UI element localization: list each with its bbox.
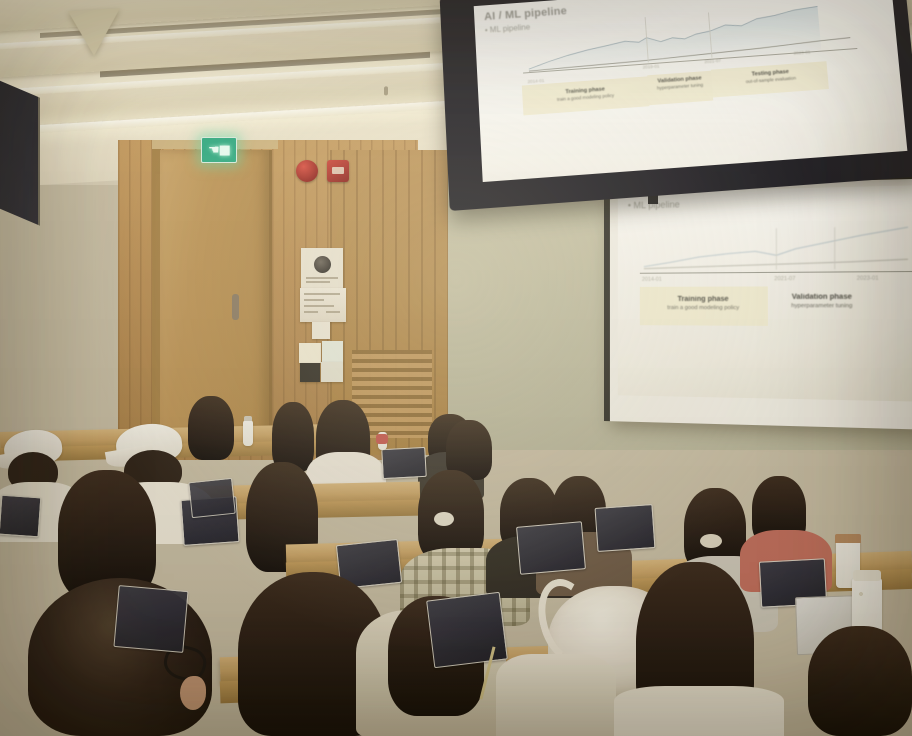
laptop <box>0 495 41 538</box>
student-hair <box>188 396 234 460</box>
sticky-note <box>321 362 343 382</box>
bottle-cap <box>835 534 861 543</box>
laptop <box>381 447 427 479</box>
wall-info-sheet <box>300 288 346 322</box>
laptop <box>113 585 188 653</box>
slide-chart-projected <box>640 221 912 272</box>
ear <box>180 676 206 710</box>
exit-sign: ☚■ <box>201 137 237 163</box>
bottle-cap <box>853 570 881 581</box>
water-bottle <box>243 420 253 446</box>
ceiling-mounted-display: AI / ML pipeline • ML pipeline <box>440 0 912 211</box>
phase-title: Validation phase <box>774 294 870 303</box>
phase-validation: Validation phase hyperparameter tuning <box>774 290 870 310</box>
sticky-note <box>299 343 321 363</box>
door-handle[interactable] <box>232 294 239 320</box>
hair-tie <box>700 534 722 548</box>
chart-tick-label: 2021-07 <box>704 58 721 64</box>
phase-title: Training phase <box>640 296 768 305</box>
slide-subtitle-projected: • ML pipeline <box>628 194 912 211</box>
chart-tick-label: 2014-01 <box>642 277 662 283</box>
chart-svg <box>640 221 912 272</box>
projection-screen: • ML pipeline 2014-01 2021-07 2023-01 <box>604 174 912 430</box>
slide-on-monitor: AI / ML pipeline • ML pipeline <box>474 0 908 182</box>
notice-symbol-icon <box>314 256 331 273</box>
fire-alarm-bell-icon <box>296 160 318 182</box>
side-monitor <box>0 78 40 226</box>
fire-alarm-call-point-icon[interactable] <box>327 160 349 182</box>
sticky-note <box>322 341 343 363</box>
wall-notice-poster <box>301 248 343 288</box>
phase-desc: hyperparameter tuning <box>774 303 870 311</box>
chart-tick-label: 2023-01 <box>793 49 810 55</box>
slide-projected: • ML pipeline 2014-01 2021-07 2023-01 <box>618 185 912 402</box>
bottle-cap <box>244 416 252 421</box>
projection-screen-surface: • ML pipeline 2014-01 2021-07 2023-01 <box>618 185 912 402</box>
sticky-note <box>300 363 320 382</box>
laptop <box>516 521 586 575</box>
student-torso <box>614 686 784 736</box>
phase-desc: train a good modeling policy <box>640 305 768 313</box>
lecture-hall-photo: ☚■ • ML pipeline <box>0 0 912 736</box>
ceiling-speaker-cone <box>68 8 120 57</box>
laptop <box>595 504 656 552</box>
display-panel: AI / ML pipeline • ML pipeline <box>474 0 908 182</box>
phase-training: Training phase train a good modeling pol… <box>640 293 768 313</box>
hair-tie <box>434 512 454 526</box>
small-wall-label <box>312 322 330 339</box>
student-hair <box>808 626 912 736</box>
laptop <box>426 592 508 669</box>
laptop <box>188 478 236 518</box>
red-object <box>376 434 388 444</box>
exit-running-man-icon: ☚■ <box>208 144 230 157</box>
chart-tick-label: 2021-07 <box>774 276 795 282</box>
chart-tick-label: 2019-01 <box>642 64 659 70</box>
ceiling-fixture <box>384 86 388 95</box>
chart-tick-label: 2023-01 <box>857 275 879 281</box>
student-torso <box>496 654 616 736</box>
